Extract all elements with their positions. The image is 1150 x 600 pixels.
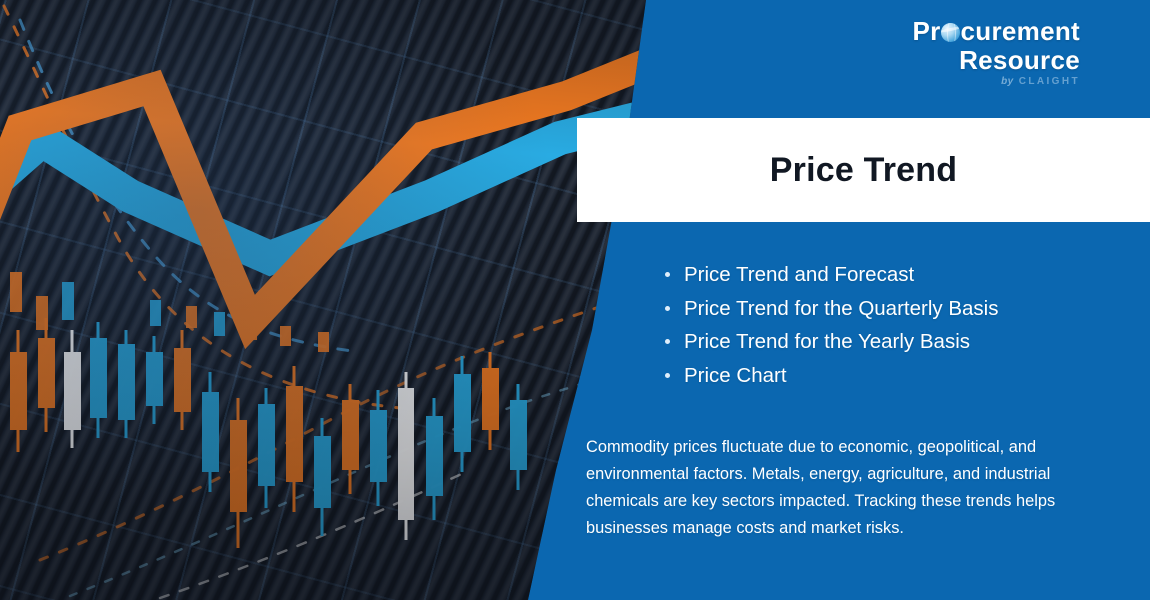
- bullet-dot-icon: [665, 306, 670, 311]
- content-panel: Prcurement Resource by CLAIGHT Price Tre…: [0, 0, 1150, 600]
- list-item[interactable]: Price Chart: [664, 359, 998, 393]
- procurement-resource-logo[interactable]: Prcurement Resource by CLAIGHT: [912, 18, 1080, 87]
- description-text: Commodity prices fluctuate due to econom…: [586, 434, 1108, 542]
- list-item[interactable]: Price Trend and Forecast: [664, 258, 998, 292]
- logo-line-2: Resource: [912, 47, 1080, 73]
- list-item-label: Price Trend for the Quarterly Basis: [684, 297, 998, 320]
- list-item-label: Price Chart: [684, 364, 787, 387]
- bullet-dot-icon: [665, 339, 670, 344]
- list-item[interactable]: Price Trend for the Quarterly Basis: [664, 292, 998, 326]
- list-item-label: Price Trend for the Yearly Basis: [684, 330, 970, 353]
- list-item[interactable]: Price Trend for the Yearly Basis: [664, 325, 998, 359]
- logo-byline: by CLAIGHT: [912, 77, 1080, 87]
- logo-text-post: curement: [961, 16, 1080, 46]
- logo-text-pre: Pr: [912, 16, 940, 46]
- globe-icon: [941, 23, 960, 42]
- price-trend-banner: Prcurement Resource by CLAIGHT Price Tre…: [0, 0, 1150, 600]
- logo-line-1: Prcurement: [912, 18, 1080, 44]
- page-title: Price Trend: [770, 151, 957, 190]
- bullet-dot-icon: [665, 373, 670, 378]
- logo-byline-name: CLAIGHT: [1019, 76, 1080, 87]
- title-band: Price Trend: [577, 118, 1150, 222]
- logo-byline-by: by: [1001, 76, 1013, 87]
- bullet-dot-icon: [665, 272, 670, 277]
- list-item-label: Price Trend and Forecast: [684, 263, 914, 286]
- topic-bullet-list: Price Trend and Forecast Price Trend for…: [664, 258, 998, 392]
